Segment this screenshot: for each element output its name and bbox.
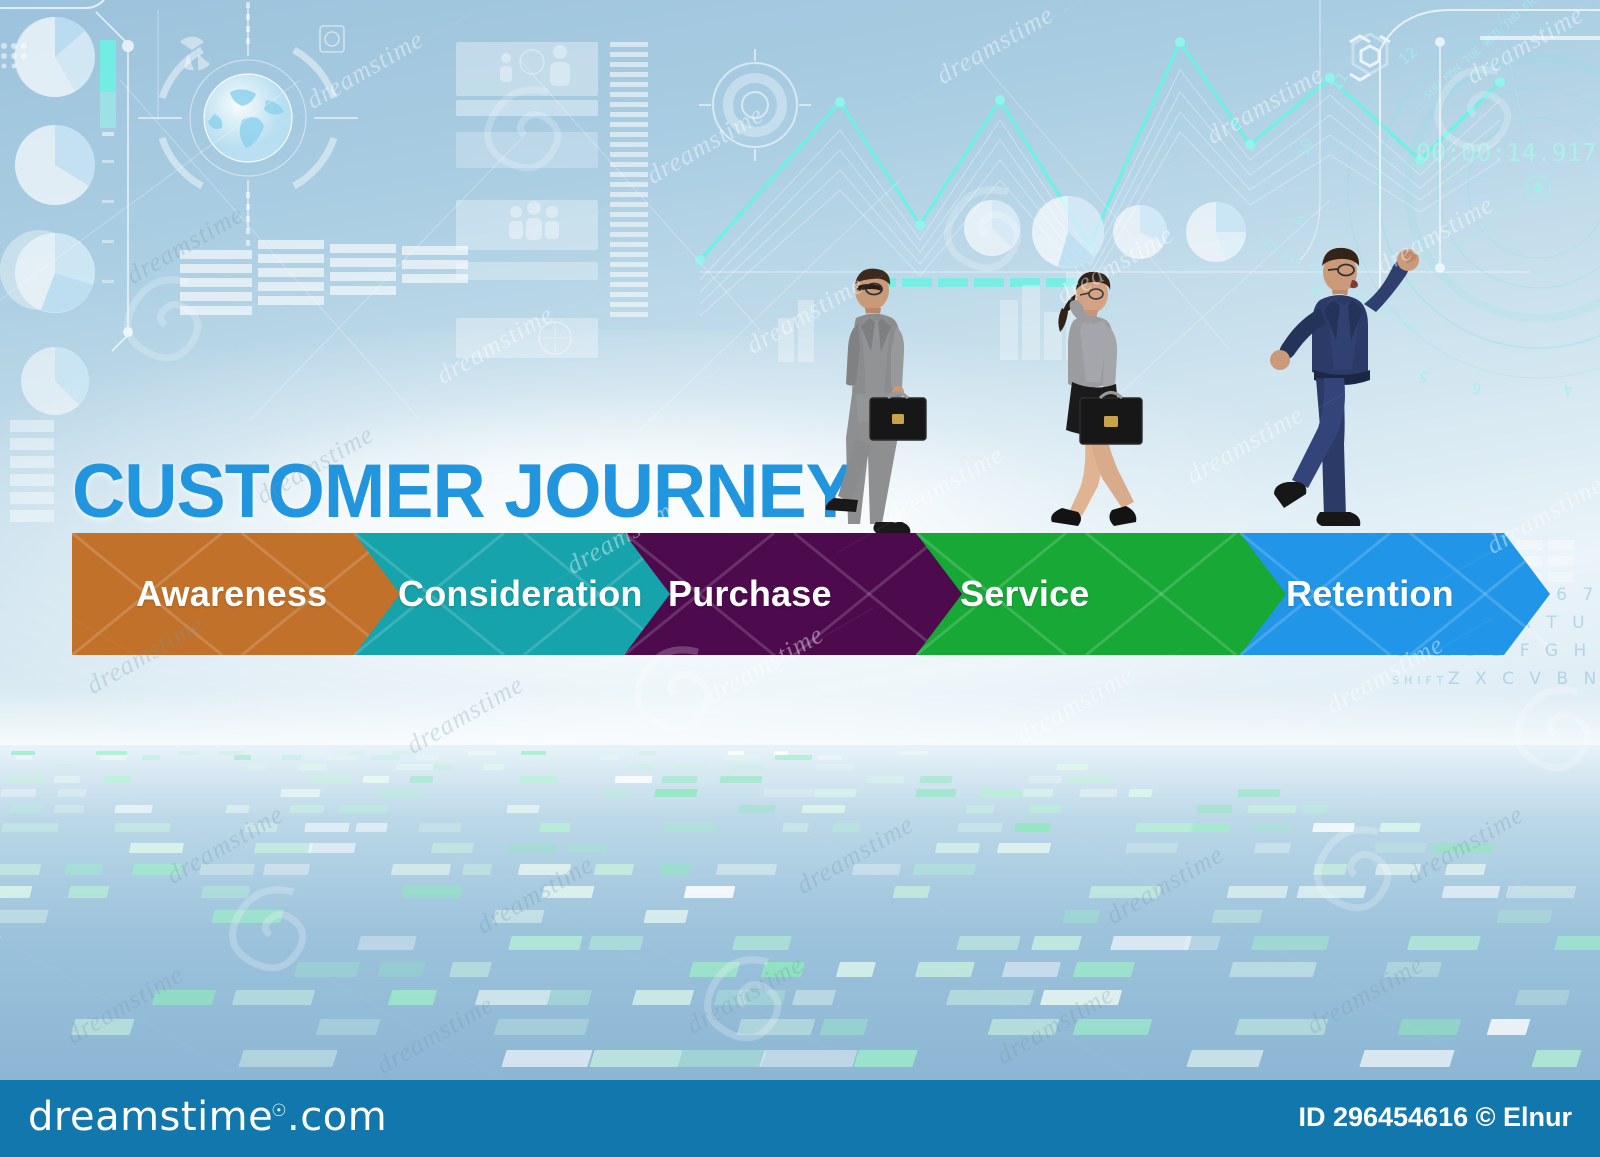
- floor-cell: [233, 755, 250, 760]
- floor-cell: [1, 823, 59, 832]
- floor-cell: [544, 990, 591, 1005]
- watermark-spiral: [620, 640, 730, 750]
- floor-cell: [402, 886, 463, 898]
- svg-text:9: 9: [1291, 214, 1310, 227]
- floor-cell: [1028, 805, 1063, 813]
- businessman-celebrating-navy-suit: [1258, 236, 1438, 536]
- floor-cell: [1441, 886, 1500, 898]
- floor-cell: [103, 776, 131, 783]
- floor-cell: [371, 755, 400, 760]
- dreamstime-logo-suffix: .com: [287, 1094, 387, 1140]
- floor-cell: [410, 776, 434, 783]
- floor-cell: [178, 751, 200, 755]
- bg-icon-recycle: [320, 26, 344, 52]
- floor-cell: [129, 843, 184, 853]
- floor-cell: [965, 805, 994, 813]
- floor-cell: [396, 764, 435, 770]
- floor-cell: [507, 843, 558, 853]
- floor-cell: [639, 751, 656, 755]
- floor-cell: [1125, 843, 1178, 853]
- floor-cell: [358, 936, 417, 950]
- floor-cell: [65, 864, 103, 875]
- floor-cell: [716, 864, 778, 875]
- floor-cell: [0, 864, 41, 875]
- floor-cell: [913, 864, 977, 875]
- floor-cell: [935, 843, 980, 853]
- floor-cell: [818, 755, 842, 760]
- floor-cell: [5, 776, 46, 783]
- floor-cell: [16, 755, 32, 760]
- floor-cell: [254, 843, 313, 853]
- floor-cell: [1237, 789, 1280, 797]
- floor-cell: [1003, 962, 1062, 977]
- floor-cell: [238, 1050, 337, 1067]
- floor-cell: [362, 776, 389, 783]
- floor-cell: [1252, 823, 1293, 832]
- floor-cell: [997, 843, 1051, 853]
- floor-cell: [1014, 823, 1051, 832]
- floor-cell: [1062, 910, 1100, 923]
- floor-cell: [304, 823, 349, 832]
- customer-journey-infographic: 12 11 10 9 8 7 6 5 4 SUN MON TUE WED THU…: [0, 0, 1600, 1157]
- floor-cell: [813, 789, 856, 797]
- floor-cell: [1360, 1050, 1455, 1067]
- floor-cell: [916, 789, 957, 797]
- floor-cell: [520, 776, 558, 783]
- floor-cell: [733, 936, 792, 950]
- journey-stage-label: Consideration: [398, 573, 643, 615]
- watermark-spiral: [470, 80, 580, 190]
- floor-cell: [308, 843, 356, 853]
- floor-cell: [1028, 776, 1062, 783]
- floor-cell: [673, 764, 706, 770]
- floor-cell: [54, 776, 81, 783]
- floor-cell: [801, 805, 845, 813]
- floor-cell: [327, 755, 357, 760]
- floor-cell: [719, 776, 762, 783]
- floor-cell: [289, 805, 325, 813]
- floor-cell: [419, 823, 462, 832]
- floor-cell: [956, 936, 1021, 950]
- floor-cell: [114, 823, 171, 832]
- floor-cell: [764, 789, 815, 797]
- dreamstime-logo-brand: dreamstime: [28, 1094, 273, 1140]
- floor-cell: [730, 764, 766, 770]
- floor-cell: [449, 962, 492, 977]
- floor-cell: [244, 764, 265, 770]
- floor-cell: [643, 910, 688, 923]
- floor-cell: [99, 755, 126, 760]
- floor-cell: [1497, 910, 1553, 923]
- floor-cell: [506, 805, 540, 813]
- floor-cell: [467, 751, 496, 755]
- floor-cell: [493, 1019, 589, 1035]
- watermark-spiral: [1300, 820, 1410, 930]
- floor-cell: [836, 962, 876, 977]
- watermark-spiral: [1420, 60, 1530, 170]
- journey-stage-label: Retention: [1286, 573, 1454, 615]
- floor-cell: [390, 864, 450, 875]
- floor-cell: [1128, 789, 1152, 797]
- floor-cell: [1079, 789, 1118, 797]
- floor-cell: [1248, 805, 1297, 813]
- floor-cell: [1187, 1050, 1264, 1067]
- floor-cell: [1505, 886, 1576, 898]
- businessman-navy-figure: [1258, 236, 1438, 536]
- floor-cell: [1398, 1019, 1462, 1035]
- floor-cell: [725, 755, 761, 760]
- floor-cell: [1554, 936, 1600, 950]
- floor-cell: [316, 1019, 381, 1035]
- floor-cell: [567, 843, 609, 853]
- floor-cell: [664, 823, 719, 832]
- dreamstime-logo-mark: ☉: [271, 1101, 287, 1121]
- dreamstime-logo: dreamstime☉.com: [28, 1094, 387, 1140]
- floor-cell: [919, 776, 952, 783]
- floor-cell: [659, 864, 692, 875]
- floor-cell: [1514, 990, 1569, 1005]
- floor-cell: [662, 776, 698, 783]
- floor-cell: [114, 805, 152, 813]
- floor-cell: [378, 789, 420, 797]
- watermark-spiral: [215, 880, 325, 990]
- watermark-spiral: [110, 270, 220, 380]
- floor-cell: [820, 1019, 869, 1035]
- floor-cell: [1191, 823, 1232, 832]
- floor-cell: [957, 823, 1002, 832]
- journey-stage-service[interactable]: Service: [916, 533, 1292, 655]
- watermark-spiral: [1500, 680, 1600, 790]
- floor-cell: [775, 755, 812, 760]
- floor-cell: [1254, 843, 1291, 853]
- floor-cell: [600, 789, 630, 797]
- floor-cell: [683, 886, 735, 898]
- floor-cell: [1487, 1019, 1531, 1035]
- svg-text:6: 6: [1471, 379, 1483, 398]
- floor-cell: [311, 776, 353, 783]
- floor-cell: [0, 789, 37, 797]
- svg-text:12: 12: [1395, 43, 1421, 69]
- floor-cell: [432, 764, 451, 770]
- floor-cell: [853, 1050, 918, 1067]
- floor-cell: [1067, 776, 1112, 783]
- svg-text:4: 4: [1562, 380, 1575, 399]
- floor-cell: [1227, 886, 1289, 898]
- floor-cell: [833, 823, 862, 832]
- floor-cell: [280, 789, 321, 797]
- floor-cell: [58, 789, 87, 797]
- floor-cell: [593, 864, 633, 875]
- floor-cell: [1301, 805, 1328, 813]
- floor-cell: [508, 936, 582, 950]
- floor-cell: [10, 805, 43, 813]
- floor-cell: [355, 823, 388, 832]
- floor-cell: [1022, 789, 1053, 797]
- floor-cell: [1196, 805, 1233, 813]
- floor-cell: [53, 805, 85, 813]
- floor-cell: [377, 962, 426, 977]
- floor-cell: [1135, 823, 1195, 832]
- page-title: CUSTOMER JOURNEY: [72, 448, 854, 535]
- watermark-spiral: [690, 950, 800, 1060]
- floor-cell: [339, 805, 390, 813]
- floor-cell: [0, 910, 49, 923]
- floor-cell: [0, 936, 1, 950]
- floor-cell: [1073, 962, 1135, 977]
- floor-cell: [816, 764, 854, 770]
- journey-stage-label: Awareness: [136, 573, 327, 615]
- floor-cell: [1407, 936, 1481, 950]
- floor-cell: [614, 776, 652, 783]
- bg-gauge-bar: [100, 40, 116, 283]
- floor-cell: [915, 962, 975, 977]
- journey-stage-label: Purchase: [668, 573, 832, 615]
- floor-cell: [225, 805, 249, 813]
- floor-cell: [655, 789, 698, 797]
- journey-stage-label: Service: [960, 573, 1090, 615]
- floor-cell: [1031, 936, 1081, 950]
- businesswoman-walking: [984, 268, 1144, 540]
- floor-cell: [0, 886, 32, 898]
- floor-cell: [298, 764, 326, 770]
- bg-pie-chart-group: [0, 17, 95, 415]
- image-id-credit: ID 296454616 © Elnur: [1298, 1102, 1572, 1133]
- floor-cell: [388, 990, 437, 1005]
- floor-cell: [56, 764, 74, 770]
- bg-bar-chart: [180, 240, 468, 315]
- floor-cell: [263, 864, 310, 875]
- floor-cell: [589, 1050, 682, 1067]
- bg-stripe-column: [610, 42, 648, 317]
- floor-cell: [539, 823, 571, 832]
- floor-cell: [632, 990, 695, 1005]
- floor-cell: [979, 789, 1022, 797]
- floor-cell: [142, 755, 160, 760]
- floor-cell: [1531, 1050, 1582, 1067]
- floor-cell: [483, 764, 504, 770]
- bg-left-table: [10, 420, 54, 522]
- floor-cell: [899, 751, 929, 755]
- watermark-spiral: [930, 180, 1040, 290]
- floor-cell: [501, 1050, 592, 1067]
- floor-cell: [67, 886, 109, 898]
- floor-cell: [627, 764, 654, 770]
- svg-text:10: 10: [1294, 136, 1316, 158]
- floor-cell: [600, 755, 618, 760]
- floor-cell: [867, 776, 905, 783]
- floor-cell: [1110, 936, 1191, 950]
- floor-cell: [1183, 936, 1221, 950]
- floor-cell: [281, 755, 301, 760]
- floor-cell: [231, 990, 314, 1005]
- footer-bar: dreamstime☉.com ID 296454616 © Elnur: [0, 1080, 1600, 1157]
- businesswoman-figure: [984, 268, 1144, 540]
- floor-cell: [1057, 764, 1089, 770]
